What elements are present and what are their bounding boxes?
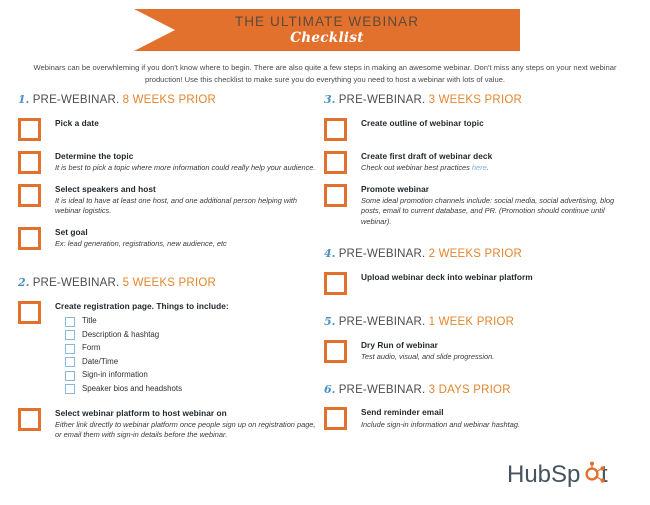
sub-checkbox[interactable]: [65, 371, 75, 381]
section-timeframe: 2 WEEKS PRIOR: [429, 248, 522, 260]
section-timeframe: 3 DAYS PRIOR: [429, 384, 511, 396]
section-label: PRE-WEBINAR.: [33, 277, 120, 289]
checklist-item: Create outline of webinar topic: [324, 117, 634, 141]
checklist-item-description: Some ideal promotion channels include: s…: [361, 196, 634, 227]
checklist-item: Dry Run of webinarTest audio, visual, an…: [324, 339, 634, 363]
checklist-item-body: Dry Run of webinarTest audio, visual, an…: [361, 339, 634, 363]
svg-text:t: t: [601, 461, 608, 488]
section-label: PRE-WEBINAR.: [33, 94, 120, 106]
section-spacer: [324, 372, 634, 383]
banner-subtitle: Checklist: [290, 32, 364, 46]
sub-checklist-label: Sign-in information: [82, 371, 148, 380]
section-heading: 5. PRE-WEBINAR. 1 WEEK PRIOR: [324, 315, 634, 330]
checkbox[interactable]: [324, 272, 347, 295]
section-number: 5.: [324, 315, 335, 328]
checklist-item-title: Determine the topic: [55, 151, 318, 162]
checkbox[interactable]: [18, 118, 41, 141]
checkbox[interactable]: [324, 118, 347, 141]
checklist-section: 3. PRE-WEBINAR. 3 WEEKS PRIORCreate outl…: [324, 93, 634, 227]
checklist-item-description: It is ideal to have at least one host, a…: [55, 196, 318, 217]
sub-checkbox[interactable]: [65, 344, 75, 354]
sub-checklist-label: Form: [82, 344, 100, 353]
sub-checklist-label: Date/Time: [82, 358, 118, 367]
checklist-item-title: Create first draft of webinar deck: [361, 151, 634, 162]
section-timeframe: 5 WEEKS PRIOR: [123, 277, 216, 289]
checkbox[interactable]: [18, 408, 41, 431]
checklist-section: 6. PRE-WEBINAR. 3 DAYS PRIORSend reminde…: [324, 383, 634, 431]
checklist-item-title: Select speakers and host: [55, 184, 318, 195]
checklist-item: Promote webinarSome ideal promotion chan…: [324, 183, 634, 227]
section-heading: 3. PRE-WEBINAR. 3 WEEKS PRIOR: [324, 93, 634, 108]
section-number: 6.: [324, 383, 335, 396]
hubspot-logo-icon: HubSp t: [507, 460, 623, 490]
section-number: 4.: [324, 247, 335, 260]
checklist-item-title: Upload webinar deck into webinar platfor…: [361, 272, 634, 283]
sub-checklist: TitleDescription & hashtagFormDate/TimeS…: [65, 317, 318, 395]
section-label: PRE-WEBINAR.: [339, 94, 426, 106]
checkbox[interactable]: [18, 301, 41, 324]
checklist-item-description: Ex: lead generation, registrations, new …: [55, 239, 318, 249]
checklist-item-title: Select webinar platform to host webinar …: [55, 408, 318, 419]
checklist-item-body: Determine the topicIt is best to pick a …: [55, 150, 318, 174]
checklist-item-body: Pick a date: [55, 117, 318, 129]
checklist-item-title: Set goal: [55, 227, 318, 238]
checklist-item-title: Create registration page. Things to incl…: [55, 301, 318, 312]
left-column: 1. PRE-WEBINAR. 8 WEEKS PRIORPick a date…: [18, 93, 318, 450]
section-timeframe: 8 WEEKS PRIOR: [123, 94, 216, 106]
checklist-item-body: Select speakers and hostIt is ideal to h…: [55, 183, 318, 217]
checklist-item: Create first draft of webinar deckCheck …: [324, 150, 634, 174]
checkbox[interactable]: [18, 184, 41, 207]
section-spacer: [324, 236, 634, 247]
sub-checklist-label: Title: [82, 317, 97, 326]
checklist-item-title: Pick a date: [55, 118, 318, 129]
hubspot-logo: HubSp t: [507, 460, 623, 490]
checklist-item-body: Send reminder emailInclude sign-in infor…: [361, 406, 634, 430]
sub-checkbox[interactable]: [65, 317, 75, 327]
checklist-item-body: Set goalEx: lead generation, registratio…: [55, 226, 318, 250]
checklist-item-body: Upload webinar deck into webinar platfor…: [361, 271, 634, 283]
best-practices-link[interactable]: here: [472, 163, 487, 172]
section-label: PRE-WEBINAR.: [339, 316, 426, 328]
section-spacer: [324, 304, 634, 315]
checklist-item-title: Create outline of webinar topic: [361, 118, 634, 129]
checklist-item-title: Send reminder email: [361, 407, 634, 418]
checkbox[interactable]: [324, 151, 347, 174]
checklist-item: Set goalEx: lead generation, registratio…: [18, 226, 318, 250]
checklist-item-description: Test audio, visual, and slide progressio…: [361, 352, 634, 362]
section-label: PRE-WEBINAR.: [339, 384, 426, 396]
section-heading: 6. PRE-WEBINAR. 3 DAYS PRIOR: [324, 383, 634, 398]
sub-checklist-item: Title: [65, 317, 318, 327]
checklist-item: Create registration page. Things to incl…: [18, 300, 318, 398]
checkbox[interactable]: [324, 407, 347, 430]
checklist-item-body: Create first draft of webinar deckCheck …: [361, 150, 634, 174]
checklist-item: Send reminder emailInclude sign-in infor…: [324, 406, 634, 430]
checkbox[interactable]: [324, 340, 347, 363]
sub-checklist-label: Description & hashtag: [82, 331, 159, 340]
description-text: Check out webinar best practices: [361, 163, 472, 172]
banner-title: THE ULTIMATE WEBINAR: [235, 15, 419, 29]
checklist-item: Upload webinar deck into webinar platfor…: [324, 271, 634, 295]
checklist-item-body: Create outline of webinar topic: [361, 117, 634, 129]
section-heading: 2. PRE-WEBINAR. 5 WEEKS PRIOR: [18, 276, 318, 291]
checklist-item-body: Create registration page. Things to incl…: [55, 300, 318, 398]
checklist-item-description: Check out webinar best practices here.: [361, 163, 634, 173]
intro-paragraph: Webinars can be overwhleming if you don'…: [25, 62, 625, 86]
checklist-section: 1. PRE-WEBINAR. 8 WEEKS PRIORPick a date…: [18, 93, 318, 250]
sub-checklist-item: Speaker bios and headshots: [65, 384, 318, 394]
checklist-section: 5. PRE-WEBINAR. 1 WEEK PRIORDry Run of w…: [324, 315, 634, 363]
checklist-item-description: Either link directly to webinar platform…: [55, 420, 318, 441]
sub-checklist-item: Description & hashtag: [65, 330, 318, 340]
section-label: PRE-WEBINAR.: [339, 248, 426, 260]
description-text-end: .: [487, 163, 489, 172]
checklist-section: 2. PRE-WEBINAR. 5 WEEKS PRIORCreate regi…: [18, 276, 318, 441]
checklist-item-description: Include sign-in information and webinar …: [361, 420, 634, 430]
sub-checklist-item: Form: [65, 344, 318, 354]
svg-text:HubSp: HubSp: [507, 461, 580, 488]
checklist-item-title: Dry Run of webinar: [361, 340, 634, 351]
right-column: 3. PRE-WEBINAR. 3 WEEKS PRIORCreate outl…: [324, 93, 634, 439]
sub-checklist-item: Date/Time: [65, 357, 318, 367]
banner-ribbon: THE ULTIMATE WEBINAR Checklist: [134, 9, 520, 51]
sub-checklist-label: Speaker bios and headshots: [82, 385, 182, 394]
sub-checkbox[interactable]: [65, 330, 75, 340]
section-heading: 4. PRE-WEBINAR. 2 WEEKS PRIOR: [324, 247, 634, 262]
checklist-item: Pick a date: [18, 117, 318, 141]
checkbox[interactable]: [18, 227, 41, 250]
checkbox[interactable]: [324, 184, 347, 207]
sub-checklist-item: Sign-in information: [65, 371, 318, 381]
checklist-item: Determine the topicIt is best to pick a …: [18, 150, 318, 174]
section-number: 2.: [18, 276, 29, 289]
checklist-section: 4. PRE-WEBINAR. 2 WEEKS PRIORUpload webi…: [324, 247, 634, 295]
checklist-item: Select speakers and hostIt is ideal to h…: [18, 183, 318, 217]
checklist-item-body: Select webinar platform to host webinar …: [55, 407, 318, 441]
section-number: 1.: [18, 93, 29, 106]
header-banner: THE ULTIMATE WEBINAR Checklist: [134, 9, 520, 51]
checklist-item-body: Promote webinarSome ideal promotion chan…: [361, 183, 634, 227]
sub-checkbox[interactable]: [65, 384, 75, 394]
section-spacer: [18, 259, 318, 276]
checklist-item-description: It is best to pick a topic where more in…: [55, 163, 318, 173]
checklist-item-title: Promote webinar: [361, 184, 634, 195]
section-timeframe: 1 WEEK PRIOR: [429, 316, 514, 328]
section-heading: 1. PRE-WEBINAR. 8 WEEKS PRIOR: [18, 93, 318, 108]
section-number: 3.: [324, 93, 335, 106]
section-timeframe: 3 WEEKS PRIOR: [429, 94, 522, 106]
checkbox[interactable]: [18, 151, 41, 174]
sub-checkbox[interactable]: [65, 357, 75, 367]
checklist-item: Select webinar platform to host webinar …: [18, 407, 318, 441]
